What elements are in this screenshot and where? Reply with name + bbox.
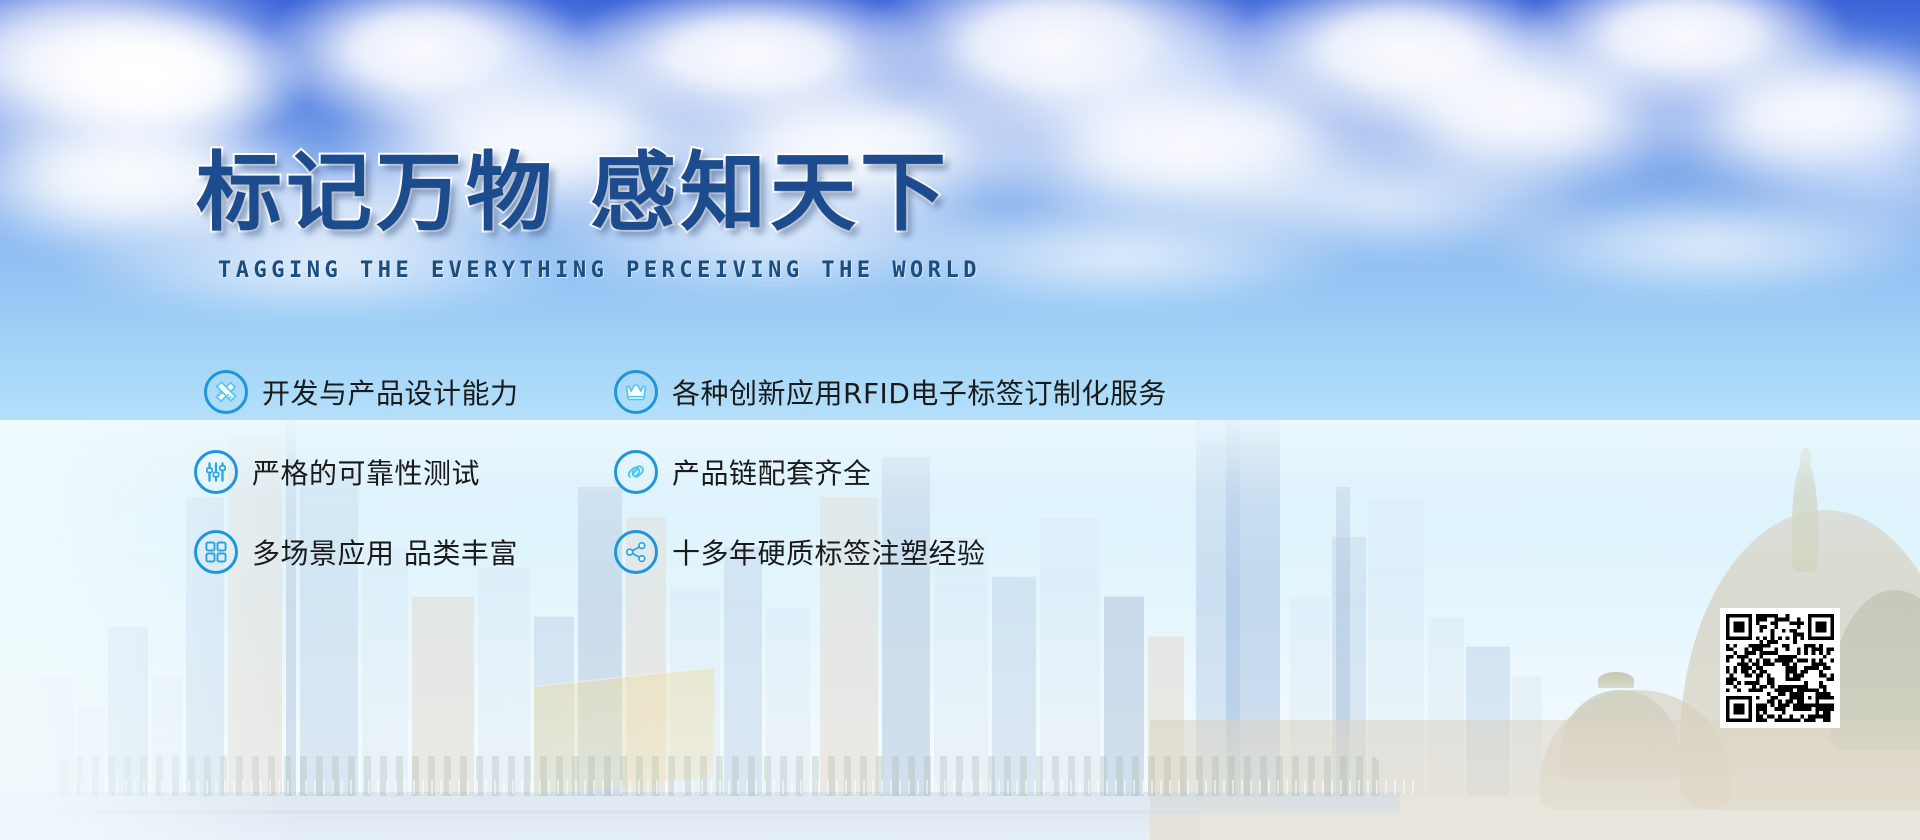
feature-label: 严格的可靠性测试 bbox=[252, 452, 480, 492]
feature-label: 产品链配套齐全 bbox=[672, 452, 872, 492]
promenade bbox=[0, 792, 1400, 814]
water bbox=[0, 810, 1200, 840]
feature-label: 十多年硬质标签注塑经验 bbox=[672, 532, 986, 572]
feature-label: 多场景应用 品类丰富 bbox=[252, 532, 518, 572]
promo-banner: 标记万物 感知天下 TAGGING THE EVERYTHING PERCEIV… bbox=[0, 0, 1920, 840]
feature-list: 开发与产品设计能力 各种创新应用RFID电子标签订制化服务 bbox=[194, 352, 1167, 592]
grid-icon bbox=[194, 530, 238, 574]
crown-icon bbox=[614, 370, 658, 414]
link-icon bbox=[614, 450, 658, 494]
feature-item-design: 开发与产品设计能力 bbox=[204, 352, 614, 432]
ruler-pencil-icon bbox=[204, 370, 248, 414]
feature-item-supplychain: 产品链配套齐全 bbox=[614, 432, 1167, 512]
headline-block: 标记万物 感知天下 TAGGING THE EVERYTHING PERCEIV… bbox=[196, 150, 981, 283]
beach bbox=[1150, 720, 1920, 840]
page-title: 标记万物 感知天下 bbox=[196, 150, 981, 236]
railing bbox=[80, 780, 1420, 794]
tree-line bbox=[60, 756, 1380, 796]
page-subtitle: TAGGING THE EVERYTHING PERCEIVING THE WO… bbox=[218, 258, 981, 283]
sliders-icon bbox=[194, 450, 238, 494]
feature-label: 各种创新应用RFID电子标签订制化服务 bbox=[672, 372, 1167, 412]
feature-item-innovation: 各种创新应用RFID电子标签订制化服务 bbox=[614, 352, 1167, 432]
feature-label: 开发与产品设计能力 bbox=[262, 372, 519, 412]
share-icon bbox=[614, 530, 658, 574]
feature-item-reliability: 严格的可靠性测试 bbox=[194, 432, 614, 512]
feature-item-scenarios: 多场景应用 品类丰富 bbox=[194, 512, 614, 592]
feature-item-experience: 十多年硬质标签注塑经验 bbox=[614, 512, 1167, 592]
qr-code[interactable] bbox=[1720, 608, 1840, 728]
qr-code-image bbox=[1726, 614, 1834, 722]
